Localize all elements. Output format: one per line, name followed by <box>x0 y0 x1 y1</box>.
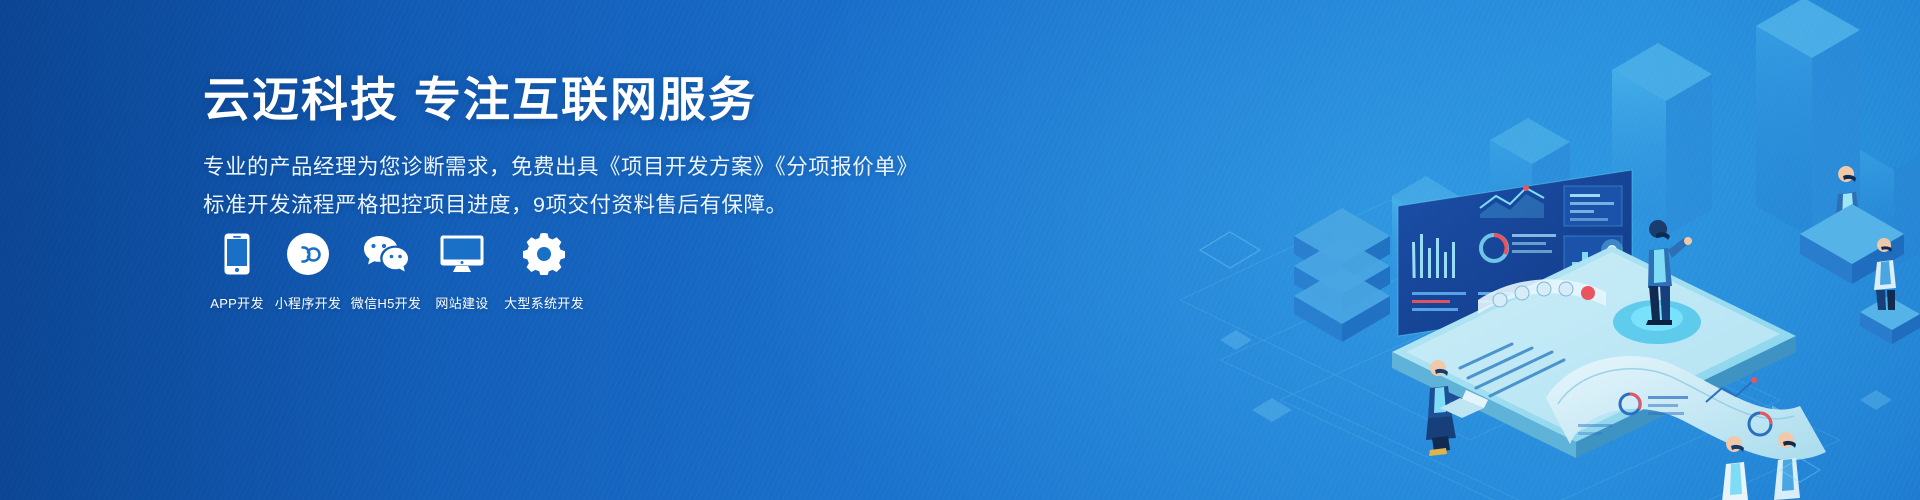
hero-subtitle: 专业的产品经理为您诊断需求，免费出具《项目开发方案》《分项报价单》 标准开发流程… <box>203 149 903 223</box>
service-item-mini-program[interactable]: 小程序开发 <box>270 232 346 312</box>
hero-illustration <box>1160 0 1920 500</box>
page-title: 云迈科技 专注互联网服务 <box>203 72 903 127</box>
service-item-website[interactable]: 网站建设 <box>426 232 498 312</box>
service-item-app[interactable]: APP开发 <box>204 232 270 312</box>
service-label: 网站建设 <box>435 293 488 312</box>
gear-icon <box>523 232 565 276</box>
service-label: APP开发 <box>210 293 264 312</box>
monitor-icon <box>440 232 484 276</box>
service-item-wechat-h5[interactable]: 微信H5开发 <box>346 232 426 312</box>
mini-program-icon <box>287 232 329 276</box>
hero-copy: 云迈科技 专注互联网服务 专业的产品经理为您诊断需求，免费出具《项目开发方案》《… <box>203 72 903 225</box>
hero-subtitle-line-2: 标准开发流程严格把控项目进度，9项交付资料售后有保障。 <box>203 187 903 223</box>
mobile-phone-icon <box>224 232 250 276</box>
wechat-icon <box>363 232 409 276</box>
service-item-large-system[interactable]: 大型系统开发 <box>498 232 590 312</box>
service-list: APP开发 小程序开发 微信 <box>204 232 590 312</box>
service-label: 微信H5开发 <box>351 293 421 312</box>
hero-banner: 云迈科技 专注互联网服务 专业的产品经理为您诊断需求，免费出具《项目开发方案》《… <box>0 0 1920 500</box>
service-label: 大型系统开发 <box>504 293 584 312</box>
hero-subtitle-line-1: 专业的产品经理为您诊断需求，免费出具《项目开发方案》《分项报价单》 <box>203 149 903 185</box>
service-label: 小程序开发 <box>275 293 342 312</box>
